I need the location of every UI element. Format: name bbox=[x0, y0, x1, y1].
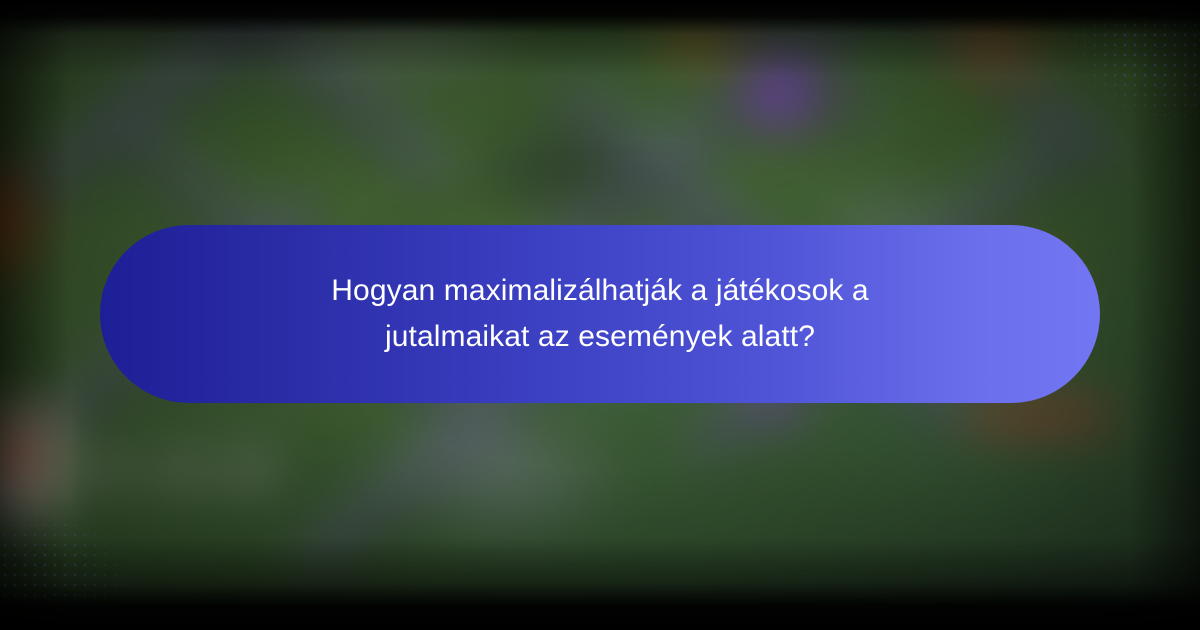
social-share-card: Hogyan maximalizálhatják a játékosok a j… bbox=[0, 0, 1200, 630]
headline-text: Hogyan maximalizálhatják a játékosok a j… bbox=[331, 268, 868, 361]
headline-pill: Hogyan maximalizálhatják a játékosok a j… bbox=[100, 225, 1100, 403]
